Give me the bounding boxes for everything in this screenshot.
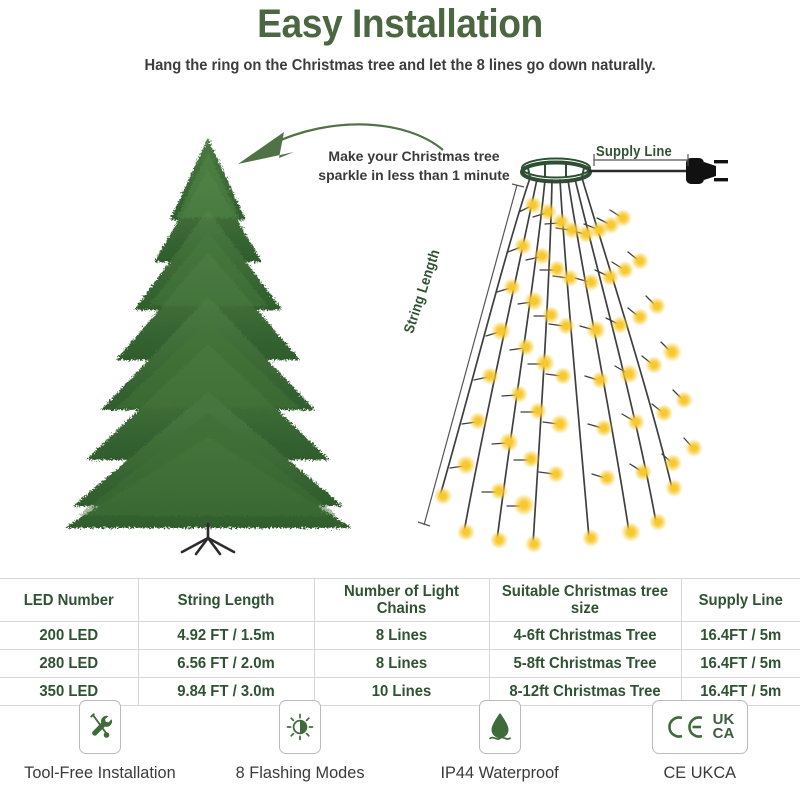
- callout-line-2: sparkle in less than 1 minute: [318, 167, 509, 183]
- infographic-page: Easy Installation Hang the ring on the C…: [0, 0, 800, 800]
- wrench-screwdriver-icon: [86, 712, 114, 742]
- feature-ce-ukca: UK CA CE UKCA: [600, 700, 800, 800]
- ce-mark-icon: [666, 714, 706, 740]
- table-cell: 280 LED: [3, 650, 135, 678]
- table-row: 200 LED 4.92 FT / 1.5m 8 Lines 4-6ft Chr…: [0, 622, 800, 650]
- table-cell: 5-8ft Christmas Tree: [493, 650, 677, 678]
- feature-icon-box: [479, 700, 521, 754]
- feature-icon-box: [79, 700, 121, 754]
- table-cell: 16.4FT / 5m: [683, 622, 797, 650]
- page-subtitle: Hang the ring on the Christmas tree and …: [20, 57, 780, 75]
- table-header-cell: Suitable Christmas tree size: [493, 579, 677, 622]
- supply-line-label: Supply Line: [596, 144, 672, 160]
- tree-stand: [182, 524, 234, 554]
- callout-text: Make your Christmas tree sparkle in less…: [298, 147, 530, 185]
- bulb-branches: [450, 206, 692, 506]
- tree-texture: [78, 152, 338, 516]
- feature-badges: Tool-Free Installation 8 Flashing Modes: [0, 700, 800, 800]
- specification-table: LED Number String Length Number of Light…: [0, 578, 800, 706]
- table-cell: 4-6ft Christmas Tree: [493, 622, 677, 650]
- water-droplet-icon: [487, 711, 513, 743]
- feature-flashing-modes: 8 Flashing Modes: [200, 700, 400, 800]
- hanging-ring: [522, 159, 590, 182]
- string-length-dimension: [418, 184, 524, 526]
- feature-label: IP44 Waterproof: [441, 763, 559, 783]
- table-header-cell: LED Number: [3, 579, 135, 622]
- ce-ukca-icon: UK CA: [666, 713, 735, 742]
- table-cell: 4.92 FT / 1.5m: [142, 622, 311, 650]
- table-cell: 200 LED: [3, 622, 135, 650]
- callout-line-1: Make your Christmas tree: [328, 148, 499, 164]
- plug-icon: [686, 158, 728, 184]
- table-cell: 8 Lines: [318, 650, 486, 678]
- table-cell: 16.4FT / 5m: [683, 650, 797, 678]
- table-header-cell: String Length: [142, 579, 311, 622]
- table-header-row: LED Number String Length Number of Light…: [0, 579, 800, 622]
- feature-icon-box: UK CA: [652, 700, 748, 754]
- installation-diagram: Make your Christmas tree sparkle in less…: [0, 92, 800, 570]
- feature-waterproof: IP44 Waterproof: [400, 700, 600, 800]
- ukca-mark-icon: UK CA: [713, 713, 735, 742]
- page-title: Easy Installation: [28, 2, 772, 47]
- table-header-cell: Number of Light Chains: [318, 579, 486, 622]
- feature-label: Tool-Free Installation: [24, 763, 176, 783]
- feature-label: CE UKCA: [664, 763, 737, 783]
- ukca-line-ca: CA: [713, 727, 735, 741]
- table-cell: 8 Lines: [318, 622, 486, 650]
- table-row: 280 LED 6.56 FT / 2.0m 8 Lines 5-8ft Chr…: [0, 650, 800, 678]
- feature-tool-free-installation: Tool-Free Installation: [0, 700, 200, 800]
- table-header-cell: Supply Line: [683, 579, 797, 622]
- table-cell: 6.56 FT / 2.0m: [142, 650, 311, 678]
- light-strands: [440, 178, 672, 544]
- feature-icon-box: [279, 700, 321, 754]
- feature-label: 8 Flashing Modes: [236, 763, 365, 783]
- brightness-sun-icon: [286, 713, 314, 741]
